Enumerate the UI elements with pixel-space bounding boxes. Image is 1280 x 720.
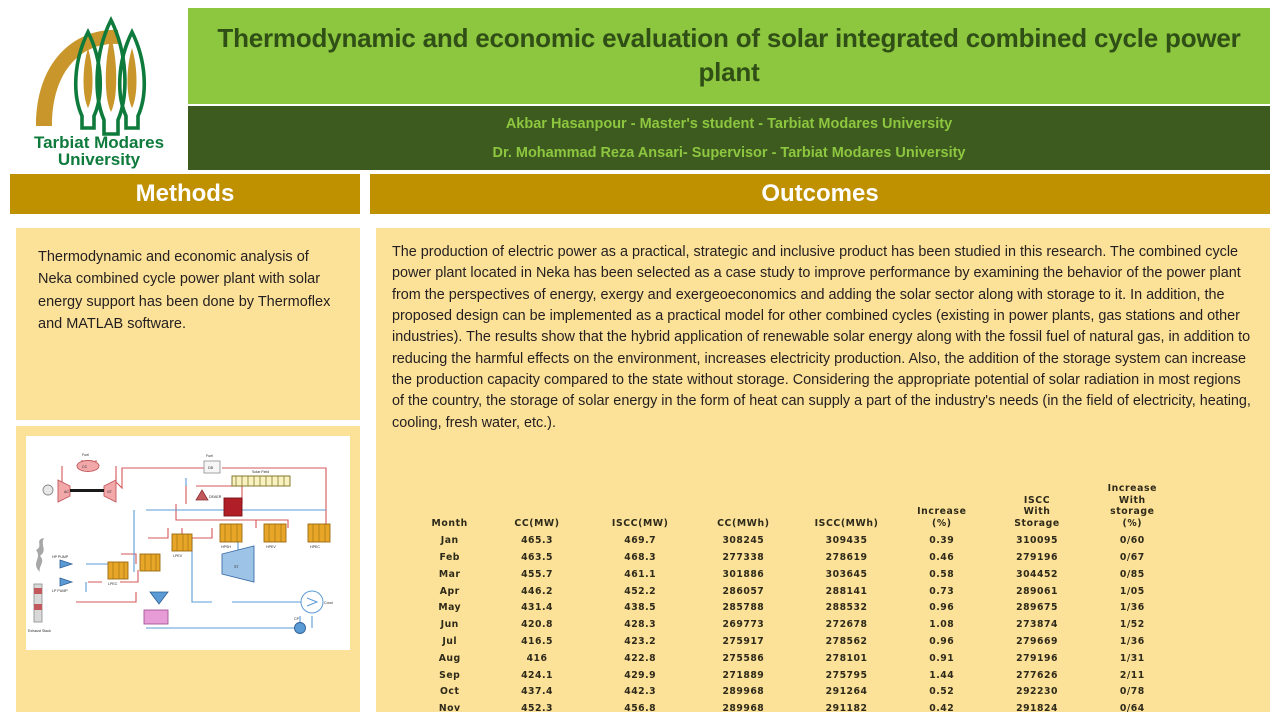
table-cell: Jul bbox=[414, 633, 485, 650]
logo-artwork: Tarbiat Modares University bbox=[14, 8, 184, 170]
logo-line2: University bbox=[58, 150, 141, 169]
table-cell: 0.58 bbox=[898, 566, 985, 583]
label-lpec: LPEC bbox=[108, 582, 118, 586]
table-cell: 272678 bbox=[795, 616, 898, 633]
table-cell: Jun bbox=[414, 616, 485, 633]
methods-figure-panel: AC CC GT DB Fuel Fuel Solar Field DEAER … bbox=[16, 426, 360, 712]
label-lpev: LPEV bbox=[173, 554, 183, 558]
outcomes-body-text: The production of electric power as a pr… bbox=[392, 242, 1254, 434]
table-column-header: Increase With storage (%) bbox=[1089, 482, 1176, 532]
table-cell: Aug bbox=[414, 650, 485, 667]
table-row: Sep424.1429.92718892757951.442776262/11 bbox=[414, 667, 1176, 684]
generator-symbol bbox=[43, 485, 53, 495]
table-cell: 278101 bbox=[795, 650, 898, 667]
label-cp: CP bbox=[294, 617, 300, 621]
table-cell: 309435 bbox=[795, 532, 898, 549]
table-cell: 0.73 bbox=[898, 583, 985, 600]
table-row: Aug416422.82755862781010.912791961/31 bbox=[414, 650, 1176, 667]
table-cell: 1/36 bbox=[1089, 633, 1176, 650]
table-cell: 310095 bbox=[985, 532, 1088, 549]
table-cell: 452.2 bbox=[589, 583, 692, 600]
table-cell: 0.52 bbox=[898, 683, 985, 700]
results-table-body: Jan465.3469.73082453094350.393100950/60F… bbox=[414, 532, 1176, 720]
page-title: Thermodynamic and economic evaluation of… bbox=[206, 22, 1252, 90]
author-line-1: Akbar Hasanpour - Master's student - Tar… bbox=[506, 116, 952, 132]
university-logo: Tarbiat Modares University bbox=[14, 8, 184, 170]
table-cell: 0/64 bbox=[1089, 700, 1176, 717]
table-cell: 429.9 bbox=[589, 667, 692, 684]
table-cell: 291824 bbox=[985, 700, 1088, 717]
table-cell: Mar bbox=[414, 566, 485, 583]
section-header-methods-label: Methods bbox=[136, 180, 235, 208]
deaerator-symbol bbox=[196, 490, 208, 500]
table-cell: 438.5 bbox=[589, 600, 692, 617]
table-cell: 0.42 bbox=[898, 700, 985, 717]
table-cell: 289968 bbox=[692, 683, 795, 700]
label-st: ST bbox=[234, 565, 239, 569]
table-cell: 416.5 bbox=[485, 633, 588, 650]
section-header-outcomes: Outcomes bbox=[370, 174, 1270, 214]
section-header-outcomes-label: Outcomes bbox=[761, 180, 878, 208]
table-cell: 0.39 bbox=[898, 532, 985, 549]
table-cell: 275795 bbox=[795, 667, 898, 684]
label-ac: AC bbox=[64, 490, 69, 494]
results-table-head: MonthCC(MW)ISCC(MW)CC(MWh)ISCC(MWh)Incre… bbox=[414, 482, 1176, 532]
table-row: Jul416.5423.22759172785620.962796691/36 bbox=[414, 633, 1176, 650]
table-row: May431.4438.52857882885320.962896751/36 bbox=[414, 600, 1176, 617]
table-cell: 0/85 bbox=[1089, 566, 1176, 583]
table-cell: 424.1 bbox=[485, 667, 588, 684]
table-cell: 437.4 bbox=[485, 683, 588, 700]
lp-economizer-symbol bbox=[144, 610, 168, 624]
condensate-pump-symbol bbox=[295, 623, 306, 634]
table-cell: 0/60 bbox=[1089, 532, 1176, 549]
table-row: Apr446.2452.22860572881410.732890611/05 bbox=[414, 583, 1176, 600]
table-cell: 420.8 bbox=[485, 616, 588, 633]
table-cell: 461.1 bbox=[589, 566, 692, 583]
table-cell: 2/11 bbox=[1089, 667, 1176, 684]
table-cell: 452.3 bbox=[485, 700, 588, 717]
table-cell: 1.44 bbox=[898, 667, 985, 684]
table-cell: 304452 bbox=[985, 566, 1088, 583]
table-cell: 1/36 bbox=[1089, 600, 1176, 617]
table-cell: Jan bbox=[414, 532, 485, 549]
label-db: DB bbox=[208, 466, 214, 470]
label-deaerator: DEAER bbox=[209, 495, 222, 499]
table-cell: 278619 bbox=[795, 549, 898, 566]
table-cell: 279196 bbox=[985, 650, 1088, 667]
table-cell: 1/31 bbox=[1089, 650, 1176, 667]
table-cell: 428.3 bbox=[589, 616, 692, 633]
table-cell: 1/05 bbox=[1089, 583, 1176, 600]
table-cell: 301886 bbox=[692, 566, 795, 583]
table-cell: 292230 bbox=[985, 683, 1088, 700]
table-column-header: CC(MWh) bbox=[692, 482, 795, 532]
label-hpec: HPEC bbox=[310, 545, 320, 549]
table-row: Feb463.5468.32773382786190.462791960/67 bbox=[414, 549, 1176, 566]
table-cell: 463.5 bbox=[485, 549, 588, 566]
table-header-row: MonthCC(MW)ISCC(MW)CC(MWh)ISCC(MWh)Incre… bbox=[414, 482, 1176, 532]
table-cell: 271889 bbox=[692, 667, 795, 684]
poster-canvas: Tarbiat Modares University Thermodynamic… bbox=[0, 0, 1280, 720]
label-hpev: HPEV bbox=[266, 545, 276, 549]
stack-band-1 bbox=[34, 588, 42, 594]
table-cell: 273874 bbox=[985, 616, 1088, 633]
table-cell: 277338 bbox=[692, 549, 795, 566]
table-row: Mar455.7461.13018863036450.583044520/85 bbox=[414, 566, 1176, 583]
table-cell: 277626 bbox=[985, 667, 1088, 684]
table-cell: 446.2 bbox=[485, 583, 588, 600]
process-flow-diagram-artwork: AC CC GT DB Fuel Fuel Solar Field DEAER … bbox=[26, 436, 350, 650]
table-cell: 291264 bbox=[795, 683, 898, 700]
table-cell: 289968 bbox=[692, 700, 795, 717]
results-table: MonthCC(MW)ISCC(MW)CC(MWh)ISCC(MWh)Incre… bbox=[414, 482, 1176, 720]
table-row: Jan465.3469.73082453094350.393100950/60 bbox=[414, 532, 1176, 549]
methods-body-text: Thermodynamic and economic analysis of N… bbox=[38, 246, 338, 336]
table-cell: 303645 bbox=[795, 566, 898, 583]
results-table-wrap: MonthCC(MW)ISCC(MW)CC(MWh)ISCC(MWh)Incre… bbox=[414, 482, 1176, 720]
table-column-header: CC(MW) bbox=[485, 482, 588, 532]
table-cell: Oct bbox=[414, 683, 485, 700]
table-cell: 289061 bbox=[985, 583, 1088, 600]
table-cell: 0.96 bbox=[898, 633, 985, 650]
table-cell: Nov bbox=[414, 700, 485, 717]
table-cell: 0.46 bbox=[898, 549, 985, 566]
table-cell: 288141 bbox=[795, 583, 898, 600]
table-row: Nov452.3456.82899682911820.422918240/64 bbox=[414, 700, 1176, 717]
methods-text-panel: Thermodynamic and economic analysis of N… bbox=[16, 228, 360, 420]
table-cell: 455.7 bbox=[485, 566, 588, 583]
label-gt: GT bbox=[107, 490, 113, 494]
table-cell: Feb bbox=[414, 549, 485, 566]
poster-title-band: Thermodynamic and economic evaluation of… bbox=[188, 8, 1270, 104]
table-cell: 0.91 bbox=[898, 650, 985, 667]
heat-exchanger-symbols bbox=[108, 524, 330, 579]
table-cell: 1.08 bbox=[898, 616, 985, 633]
table-column-header: ISCC(MW) bbox=[589, 482, 692, 532]
label-solar-field: Solar Field bbox=[252, 470, 269, 474]
label-cc: CC bbox=[82, 465, 88, 469]
table-cell: 442.3 bbox=[589, 683, 692, 700]
table-cell: 275917 bbox=[692, 633, 795, 650]
hp-pump-symbol bbox=[60, 560, 72, 568]
table-cell: 423.2 bbox=[589, 633, 692, 650]
table-cell: 468.3 bbox=[589, 549, 692, 566]
table-cell: 0/67 bbox=[1089, 549, 1176, 566]
table-cell: May bbox=[414, 600, 485, 617]
table-cell: 469.7 bbox=[589, 532, 692, 549]
table-cell: 422.8 bbox=[589, 650, 692, 667]
table-row: Oct437.4442.32899682912640.522922300/78 bbox=[414, 683, 1176, 700]
table-cell: 275586 bbox=[692, 650, 795, 667]
table-cell: 269773 bbox=[692, 616, 795, 633]
turbine-shaft bbox=[70, 489, 104, 492]
table-cell: 431.4 bbox=[485, 600, 588, 617]
table-row: Jun420.8428.32697732726781.082738741/52 bbox=[414, 616, 1176, 633]
table-cell: 0/78 bbox=[1089, 683, 1176, 700]
table-cell: 278562 bbox=[795, 633, 898, 650]
table-column-header: ISCC With Storage bbox=[985, 482, 1088, 532]
table-cell: Sep bbox=[414, 667, 485, 684]
table-cell: Apr bbox=[414, 583, 485, 600]
author-line-2: Dr. Mohammad Reza Ansari- Supervisor - T… bbox=[493, 145, 966, 161]
label-lp-pump: LP PUMP bbox=[52, 589, 68, 593]
table-cell: 288532 bbox=[795, 600, 898, 617]
label-stack: Exhaust Stack bbox=[28, 629, 51, 633]
combustion-chamber-symbol bbox=[77, 461, 99, 472]
table-cell: 285788 bbox=[692, 600, 795, 617]
authors-band: Akbar Hasanpour - Master's student - Tar… bbox=[188, 106, 1270, 170]
table-cell: 456.8 bbox=[589, 700, 692, 717]
table-cell: 286057 bbox=[692, 583, 795, 600]
label-cond: Cond bbox=[324, 601, 333, 605]
stack-band-2 bbox=[34, 604, 42, 610]
table-cell: 308245 bbox=[692, 532, 795, 549]
table-column-header: Increase (%) bbox=[898, 482, 985, 532]
table-cell: 1/52 bbox=[1089, 616, 1176, 633]
condenser-symbol bbox=[301, 591, 323, 613]
table-column-header: Month bbox=[414, 482, 485, 532]
drum-symbol bbox=[150, 592, 168, 604]
table-cell: 0.96 bbox=[898, 600, 985, 617]
table-cell: 291182 bbox=[795, 700, 898, 717]
label-hp-pump: HP PUMP bbox=[52, 555, 69, 559]
solar-collector-field-symbol bbox=[232, 476, 290, 486]
table-cell: 416 bbox=[485, 650, 588, 667]
cold-stream-lines bbox=[86, 478, 326, 628]
steam-turbine-symbol bbox=[222, 546, 254, 582]
table-column-header: ISCC(MWh) bbox=[795, 482, 898, 532]
table-cell: 279669 bbox=[985, 633, 1088, 650]
section-header-methods: Methods bbox=[10, 174, 360, 214]
table-cell: 465.3 bbox=[485, 532, 588, 549]
table-cell: 279196 bbox=[985, 549, 1088, 566]
storage-tank-symbol bbox=[224, 498, 242, 516]
label-fuel-db: Fuel bbox=[206, 454, 213, 458]
smoke-plume bbox=[36, 538, 44, 572]
table-cell: 289675 bbox=[985, 600, 1088, 617]
process-flow-diagram: AC CC GT DB Fuel Fuel Solar Field DEAER … bbox=[26, 436, 350, 650]
label-fuel-cc: Fuel bbox=[82, 453, 89, 457]
label-hpsh: HPSH bbox=[221, 545, 231, 549]
lp-pump-symbol bbox=[60, 578, 72, 586]
